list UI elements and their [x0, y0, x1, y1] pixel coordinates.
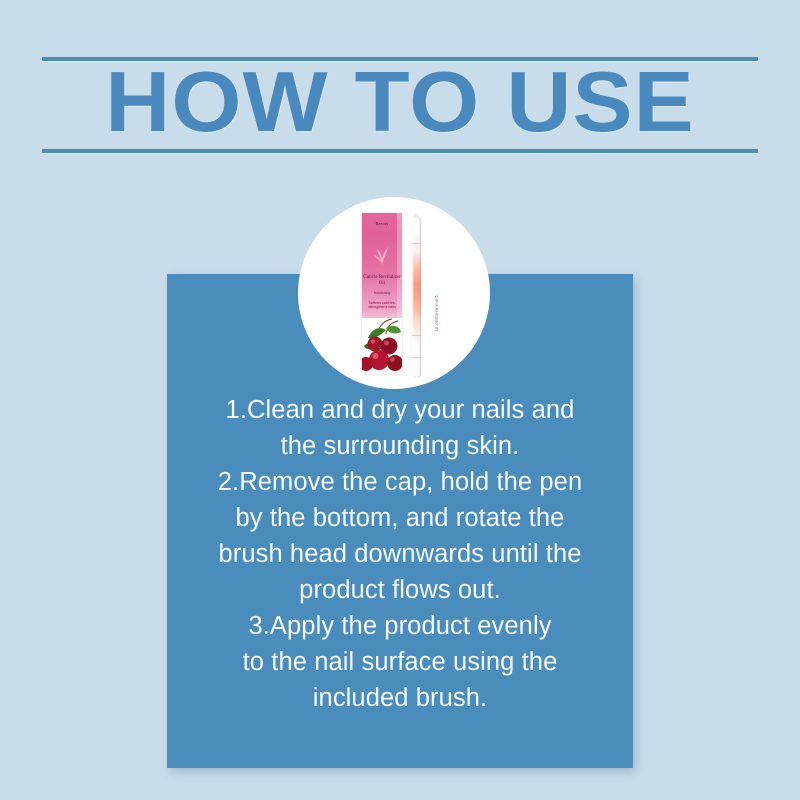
cherries-icon: [362, 318, 402, 374]
instruction-line: included brush.: [167, 680, 633, 716]
package-flourish-icon: [372, 241, 392, 267]
instruction-line: 2.Remove the cap, hold the pen: [167, 464, 633, 500]
pen-seam: [412, 357, 421, 358]
instruction-line: 3.Apply the product evenly: [167, 608, 633, 644]
instruction-text: 1.Clean and dry your nails and the surro…: [167, 392, 633, 716]
instruction-line: the surrounding skin.: [167, 428, 633, 464]
title-rule-bottom: [42, 149, 758, 153]
instruction-line: to the nail surface using the: [167, 644, 633, 680]
instruction-line: product flows out.: [167, 572, 633, 608]
package-fruit-art: [362, 318, 402, 374]
pen-label: Cuticle Revitalizer Oil: [395, 296, 439, 307]
product-image-circle: Beauty Cuticle Revitalizer Oil Nourishin…: [298, 197, 490, 389]
pen-seam: [412, 243, 421, 244]
page-title: HOW TO USE: [0, 58, 800, 148]
instruction-line: brush head downwards until the: [167, 536, 633, 572]
package-brand: Beauty: [362, 221, 402, 226]
product-package-box: Beauty Cuticle Revitalizer Oil Nourishin…: [362, 213, 402, 374]
pen-seam: [412, 335, 421, 336]
instruction-line: 1.Clean and dry your nails and: [167, 392, 633, 428]
package-title: Cuticle Revitalizer Oil: [362, 275, 402, 287]
product-pen: Cuticle Revitalizer Oil: [410, 217, 423, 377]
instruction-line: by the bottom, and rotate the: [167, 500, 633, 536]
poster-canvas: HOW TO USE 1.Clean and dry your nails an…: [0, 0, 800, 800]
product-photo: Beauty Cuticle Revitalizer Oil Nourishin…: [298, 197, 490, 389]
